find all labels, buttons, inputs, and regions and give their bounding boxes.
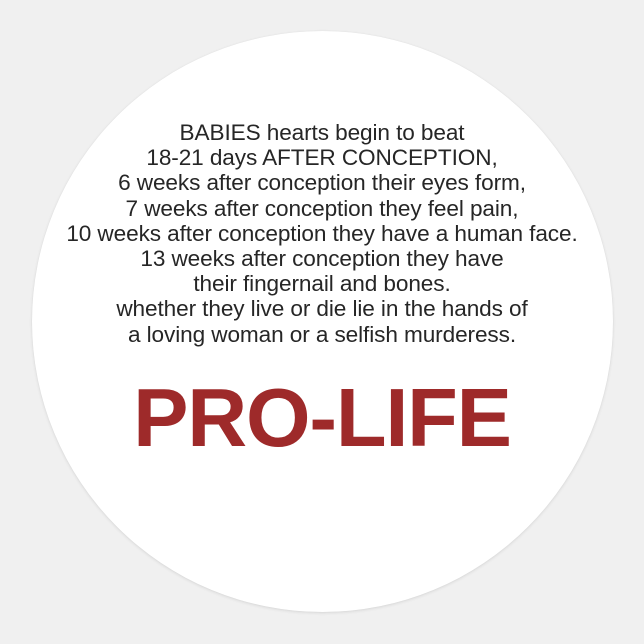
sticker-headline: PRO-LIFE xyxy=(0,376,644,459)
body-line-2: 18-21 days AFTER CONCEPTION, xyxy=(0,145,644,170)
sticker-body-text: BABIES hearts begin to beat 18-21 days A… xyxy=(0,120,644,347)
body-line-3: 6 weeks after conception their eyes form… xyxy=(0,170,644,195)
body-line-6: 13 weeks after conception they have xyxy=(0,246,644,271)
body-line-9: a loving woman or a selfish murderess. xyxy=(0,322,644,347)
body-line-5: 10 weeks after conception they have a hu… xyxy=(0,221,644,246)
sticker-preview-canvas: BABIES hearts begin to beat 18-21 days A… xyxy=(0,0,644,644)
body-line-8: whether they live or die lie in the hand… xyxy=(0,296,644,321)
body-line-7: their fingernail and bones. xyxy=(0,271,644,296)
sticker-artwork: BABIES hearts begin to beat 18-21 days A… xyxy=(0,0,644,644)
body-line-4: 7 weeks after conception they feel pain, xyxy=(0,196,644,221)
body-line-1: BABIES hearts begin to beat xyxy=(0,120,644,145)
